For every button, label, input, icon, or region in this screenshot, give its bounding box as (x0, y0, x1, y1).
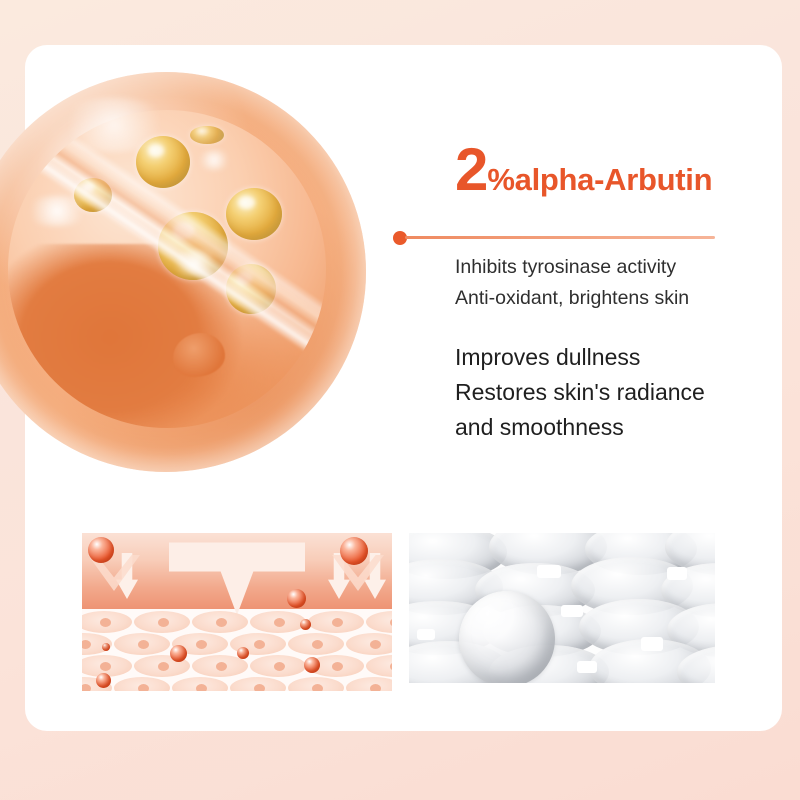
bubble-highlight (641, 637, 663, 651)
bubble-featured (459, 591, 555, 683)
active-molecule (287, 589, 306, 608)
active-molecule (304, 657, 320, 673)
connector-line (393, 230, 723, 246)
bubble-highlight (537, 565, 561, 578)
active-molecule (170, 645, 187, 662)
list-item: Inhibits tyrosinase activity (455, 252, 689, 283)
page-title: 2%alpha-Arbutin (455, 140, 785, 200)
bubble-texture-figure (409, 533, 715, 683)
skin-cell (114, 633, 170, 655)
bubble-highlight (577, 661, 597, 673)
active-molecule (300, 619, 311, 630)
skin-cell (250, 611, 306, 633)
active-molecule (237, 647, 249, 659)
skin-cell (134, 611, 190, 633)
benefit-list: Improves dullness Restores skin's radian… (455, 340, 705, 445)
skin-cell (192, 611, 248, 633)
ingredient-text-block: 2%alpha-Arbutin Inhibits tyrosinase acti… (455, 140, 785, 200)
connector-rule (405, 236, 715, 239)
active-molecule (88, 537, 114, 563)
skin-cell (288, 633, 344, 655)
bubble-highlight (667, 567, 687, 580)
sub-benefit-list: Inhibits tyrosinase activity Anti-oxidan… (455, 252, 689, 314)
active-molecule (102, 643, 110, 651)
list-item: Anti-oxidant, brightens skin (455, 283, 689, 314)
active-molecule (340, 537, 368, 565)
promo-graphic: 2%alpha-Arbutin Inhibits tyrosinase acti… (0, 0, 800, 800)
bubble-highlight (561, 605, 583, 617)
active-molecule (96, 673, 111, 688)
skin-cell (250, 655, 306, 677)
skin-cell (308, 611, 364, 633)
headline-suffix: %alpha-Arbutin (487, 162, 712, 197)
list-item: Improves dullness (455, 340, 705, 375)
skin-absorption-figure (82, 533, 392, 691)
bubble-highlight (417, 629, 435, 640)
list-item: Restores skin's radiance (455, 375, 705, 410)
list-item: and smoothness (455, 410, 705, 445)
headline-number: 2 (455, 136, 487, 203)
